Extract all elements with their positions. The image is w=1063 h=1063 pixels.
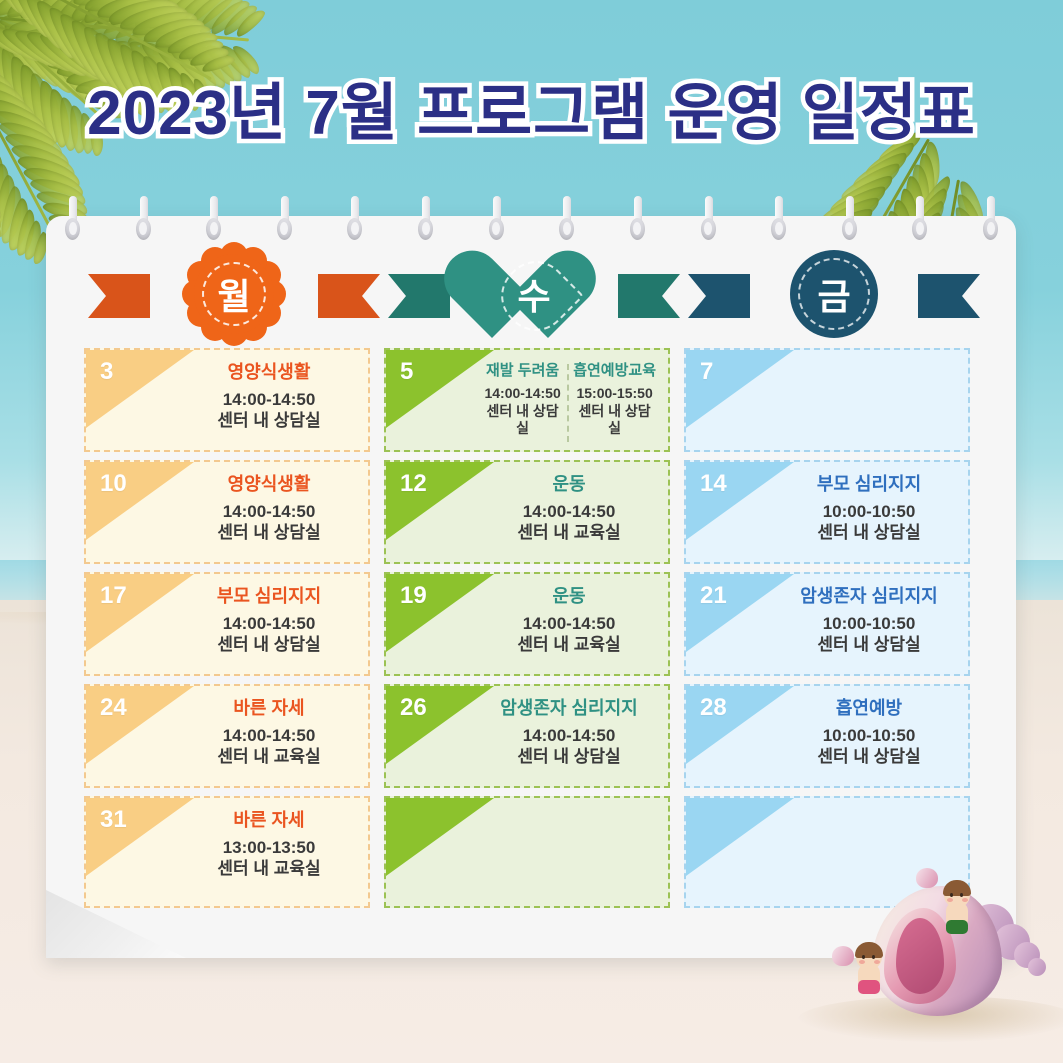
event-title: 암생존자 심리지지 bbox=[782, 586, 956, 607]
event-entry[interactable]: 운동14:00-14:50센터 내 교육실 bbox=[478, 586, 660, 655]
event-time: 14:00-14:50 bbox=[482, 725, 656, 746]
day-header-wed: 수 bbox=[384, 246, 684, 342]
calendar-column-fri: 714부모 심리지지10:00-10:50센터 내 상담실21암생존자 심리지지… bbox=[684, 348, 970, 916]
event-time: 14:00-14:50 bbox=[182, 725, 356, 746]
event-entry[interactable]: 재발 두려움14:00-14:50센터 내 상담실 bbox=[478, 362, 567, 438]
cell-events: 바른 자세14:00-14:50센터 내 교육실 bbox=[178, 698, 360, 780]
spiral-ring bbox=[701, 196, 716, 244]
event-place: 센터 내 상담실 bbox=[573, 403, 656, 438]
event-place: 센터 내 상담실 bbox=[482, 746, 656, 767]
day-label-fri: 금 bbox=[817, 268, 850, 320]
cell-events: 바른 자세13:00-13:50센터 내 교육실 bbox=[178, 810, 360, 900]
spiral-ring bbox=[771, 196, 786, 244]
event-entry[interactable]: 운동14:00-14:50센터 내 교육실 bbox=[478, 474, 660, 543]
event-place: 센터 내 상담실 bbox=[482, 403, 563, 438]
day-label-mon: 월 bbox=[217, 268, 250, 320]
small-shell-icon bbox=[916, 868, 938, 888]
event-title: 운동 bbox=[482, 474, 656, 495]
event-place: 센터 내 교육실 bbox=[482, 522, 656, 543]
calendar-cell[interactable]: 19운동14:00-14:50센터 내 교육실 bbox=[384, 572, 670, 676]
event-entry[interactable]: 부모 심리지지10:00-10:50센터 내 상담실 bbox=[778, 474, 960, 543]
cell-events: 암생존자 심리지지14:00-14:50센터 내 상담실 bbox=[478, 698, 660, 780]
day-number: 28 bbox=[700, 694, 727, 722]
cell-events: 운동14:00-14:50센터 내 교육실 bbox=[478, 586, 660, 668]
event-title: 영양식생활 bbox=[182, 474, 356, 495]
spiral-ring bbox=[983, 196, 998, 244]
ribbon-right-tail bbox=[618, 274, 680, 318]
day-number: 14 bbox=[700, 470, 727, 498]
event-entry[interactable]: 영양식생활14:00-14:50센터 내 상담실 bbox=[178, 474, 360, 543]
calendar-cell[interactable]: 31바른 자세13:00-13:50센터 내 교육실 bbox=[84, 796, 370, 908]
day-number: 19 bbox=[400, 582, 427, 610]
day-number: 31 bbox=[100, 806, 127, 834]
badge-wed: 수 bbox=[486, 246, 582, 342]
cell-events: 흡연예방10:00-10:50센터 내 상담실 bbox=[778, 698, 960, 780]
cell-events: 영양식생활14:00-14:50센터 내 상담실 bbox=[178, 362, 360, 444]
event-entry[interactable]: 영양식생활14:00-14:50센터 내 상담실 bbox=[178, 362, 360, 431]
calendar-cell[interactable]: 7 bbox=[684, 348, 970, 452]
day-number: 26 bbox=[400, 694, 427, 722]
event-time: 10:00-10:50 bbox=[782, 613, 956, 634]
event-entry[interactable]: 암생존자 심리지지10:00-10:50센터 내 상담실 bbox=[778, 586, 960, 655]
event-place: 센터 내 상담실 bbox=[782, 522, 956, 543]
event-time: 15:00-15:50 bbox=[573, 385, 656, 403]
event-time: 14:00-14:50 bbox=[182, 501, 356, 522]
calendar-cell[interactable] bbox=[384, 796, 670, 908]
shell-spire bbox=[1028, 958, 1046, 976]
event-place: 센터 내 상담실 bbox=[182, 410, 356, 431]
event-place: 센터 내 교육실 bbox=[182, 746, 356, 767]
calendar-column-mon: 3영양식생활14:00-14:50센터 내 상담실10영양식생활14:00-14… bbox=[84, 348, 370, 916]
event-title: 운동 bbox=[482, 586, 656, 607]
event-place: 센터 내 상담실 bbox=[782, 634, 956, 655]
event-title: 흡연예방교육 bbox=[573, 362, 656, 379]
event-entry[interactable]: 바른 자세13:00-13:50센터 내 교육실 bbox=[178, 810, 360, 879]
event-time: 10:00-10:50 bbox=[782, 725, 956, 746]
cell-events: 부모 심리지지14:00-14:50센터 내 상담실 bbox=[178, 586, 360, 668]
event-title: 부모 심리지지 bbox=[782, 474, 956, 495]
small-shell-icon bbox=[832, 946, 854, 966]
calendar-cell[interactable]: 14부모 심리지지10:00-10:50센터 내 상담실 bbox=[684, 460, 970, 564]
day-corner-triangle bbox=[386, 798, 494, 876]
event-entry[interactable]: 부모 심리지지14:00-14:50센터 내 상담실 bbox=[178, 586, 360, 655]
day-corner-triangle bbox=[686, 798, 794, 876]
event-entry[interactable]: 흡연예방10:00-10:50센터 내 상담실 bbox=[778, 698, 960, 767]
spiral-ring bbox=[65, 196, 80, 244]
spiral-binding bbox=[46, 196, 1016, 250]
spiral-ring bbox=[206, 196, 221, 244]
cell-events: 운동14:00-14:50센터 내 교육실 bbox=[478, 474, 660, 556]
calendar-column-wed: 5재발 두려움14:00-14:50센터 내 상담실흡연예방교육15:00-15… bbox=[384, 348, 670, 916]
event-entry[interactable]: 흡연예방교육15:00-15:50센터 내 상담실 bbox=[569, 362, 660, 438]
calendar-cell[interactable]: 24바른 자세14:00-14:50센터 내 교육실 bbox=[84, 684, 370, 788]
spiral-ring bbox=[630, 196, 645, 244]
ribbon-right-tail bbox=[918, 274, 980, 318]
calendar-cell[interactable]: 17부모 심리지지14:00-14:50센터 내 상담실 bbox=[84, 572, 370, 676]
event-title: 암생존자 심리지지 bbox=[482, 698, 656, 719]
cell-events: 암생존자 심리지지10:00-10:50센터 내 상담실 bbox=[778, 586, 960, 668]
badge-mon: 월 bbox=[186, 246, 282, 342]
day-number: 5 bbox=[400, 358, 413, 386]
day-number: 7 bbox=[700, 358, 713, 386]
event-place: 센터 내 교육실 bbox=[482, 634, 656, 655]
event-time: 13:00-13:50 bbox=[182, 837, 356, 858]
spiral-ring bbox=[842, 196, 857, 244]
cell-events: 부모 심리지지10:00-10:50센터 내 상담실 bbox=[778, 474, 960, 556]
ribbon-left-tail bbox=[388, 274, 450, 318]
event-entry[interactable]: 바른 자세14:00-14:50센터 내 교육실 bbox=[178, 698, 360, 767]
day-header-fri: 금 bbox=[684, 246, 984, 342]
spiral-ring bbox=[559, 196, 574, 244]
event-time: 14:00-14:50 bbox=[482, 613, 656, 634]
calendar-cell[interactable]: 3영양식생활14:00-14:50센터 내 상담실 bbox=[84, 348, 370, 452]
event-time: 14:00-14:50 bbox=[182, 389, 356, 410]
calendar-cell[interactable]: 28흡연예방10:00-10:50센터 내 상담실 bbox=[684, 684, 970, 788]
calendar-cell[interactable]: 21암생존자 심리지지10:00-10:50센터 내 상담실 bbox=[684, 572, 970, 676]
event-place: 센터 내 상담실 bbox=[182, 634, 356, 655]
spiral-ring bbox=[347, 196, 362, 244]
spiral-ring bbox=[912, 196, 927, 244]
spiral-ring bbox=[418, 196, 433, 244]
ribbon-left-tail bbox=[88, 274, 150, 318]
event-place: 센터 내 상담실 bbox=[782, 746, 956, 767]
spiral-ring bbox=[136, 196, 151, 244]
spiral-ring bbox=[277, 196, 292, 244]
ribbon-left-tail bbox=[688, 274, 750, 318]
event-time: 14:00-14:50 bbox=[182, 613, 356, 634]
event-time: 14:00-14:50 bbox=[482, 385, 563, 403]
calendar-cell[interactable]: 10영양식생활14:00-14:50센터 내 상담실 bbox=[84, 460, 370, 564]
event-title: 영양식생활 bbox=[182, 362, 356, 383]
day-number: 17 bbox=[100, 582, 127, 610]
ribbon-right-tail bbox=[318, 274, 380, 318]
calendar-cell[interactable]: 5재발 두려움14:00-14:50센터 내 상담실흡연예방교육15:00-15… bbox=[384, 348, 670, 452]
day-number: 12 bbox=[400, 470, 427, 498]
day-number: 10 bbox=[100, 470, 127, 498]
event-title: 재발 두려움 bbox=[482, 362, 563, 379]
event-place: 센터 내 교육실 bbox=[182, 858, 356, 879]
cell-events: 영양식생활14:00-14:50센터 내 상담실 bbox=[178, 474, 360, 556]
day-number: 24 bbox=[100, 694, 127, 722]
event-place: 센터 내 상담실 bbox=[182, 522, 356, 543]
event-time: 14:00-14:50 bbox=[482, 501, 656, 522]
event-title: 바른 자세 bbox=[182, 698, 356, 719]
day-label-wed: 수 bbox=[517, 268, 550, 320]
event-title: 흡연예방 bbox=[782, 698, 956, 719]
conch-shell-illustration bbox=[818, 846, 1058, 1046]
badge-fri: 금 bbox=[786, 246, 882, 342]
spiral-ring bbox=[489, 196, 504, 244]
calendar-cell[interactable]: 12운동14:00-14:50센터 내 교육실 bbox=[384, 460, 670, 564]
cell-events: 재발 두려움14:00-14:50센터 내 상담실흡연예방교육15:00-15:… bbox=[478, 362, 660, 444]
day-header-mon: 월 bbox=[84, 246, 384, 342]
event-title: 부모 심리지지 bbox=[182, 586, 356, 607]
event-time: 10:00-10:50 bbox=[782, 501, 956, 522]
day-number: 3 bbox=[100, 358, 113, 386]
calendar-cell[interactable]: 26암생존자 심리지지14:00-14:50센터 내 상담실 bbox=[384, 684, 670, 788]
event-title: 바른 자세 bbox=[182, 810, 356, 831]
event-entry[interactable]: 암생존자 심리지지14:00-14:50센터 내 상담실 bbox=[478, 698, 660, 767]
day-number: 21 bbox=[700, 582, 727, 610]
page-title: 2023년 7월 프로그램 운영 일정표 bbox=[0, 62, 1063, 152]
